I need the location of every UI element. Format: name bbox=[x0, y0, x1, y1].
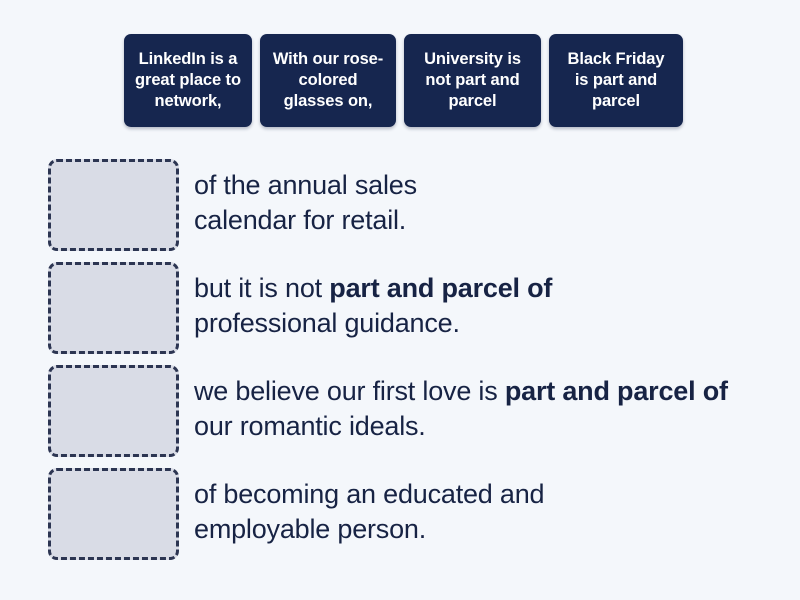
tile-university[interactable]: University is not part and parcel bbox=[404, 34, 541, 127]
answer-text-4: of becoming an educated and employable p… bbox=[194, 468, 624, 547]
tile-black-friday[interactable]: Black Friday is part and parcel bbox=[549, 34, 683, 127]
answer-text-3: we believe our first love is part and pa… bbox=[194, 365, 764, 444]
tile-linkedin-label: LinkedIn is a great place to network, bbox=[134, 49, 242, 111]
activity-stage: LinkedIn is a great place to network, Wi… bbox=[0, 0, 800, 600]
dropzone-1[interactable] bbox=[48, 159, 179, 251]
answer-row: of the annual sales calendar for retail. bbox=[48, 159, 788, 251]
dropzone-3[interactable] bbox=[48, 365, 179, 457]
answer-row: of becoming an educated and employable p… bbox=[48, 468, 788, 560]
dropzone-4[interactable] bbox=[48, 468, 179, 560]
tile-university-label: University is not part and parcel bbox=[414, 49, 531, 111]
answer-row: we believe our first love is part and pa… bbox=[48, 365, 788, 457]
tile-tray: LinkedIn is a great place to network, Wi… bbox=[124, 34, 683, 127]
tile-linkedin[interactable]: LinkedIn is a great place to network, bbox=[124, 34, 252, 127]
answer-row: but it is not part and parcel of profess… bbox=[48, 262, 788, 354]
tile-rose-colored-glasses[interactable]: With our rose-colored glasses on, bbox=[260, 34, 396, 127]
dropzone-2[interactable] bbox=[48, 262, 179, 354]
answer-text-2: but it is not part and parcel of profess… bbox=[194, 262, 694, 341]
answer-text-1: of the annual sales calendar for retail. bbox=[194, 159, 524, 238]
tile-rose-colored-glasses-label: With our rose-colored glasses on, bbox=[270, 49, 386, 111]
answer-row-list: of the annual sales calendar for retail.… bbox=[48, 159, 788, 571]
tile-black-friday-label: Black Friday is part and parcel bbox=[559, 49, 673, 111]
